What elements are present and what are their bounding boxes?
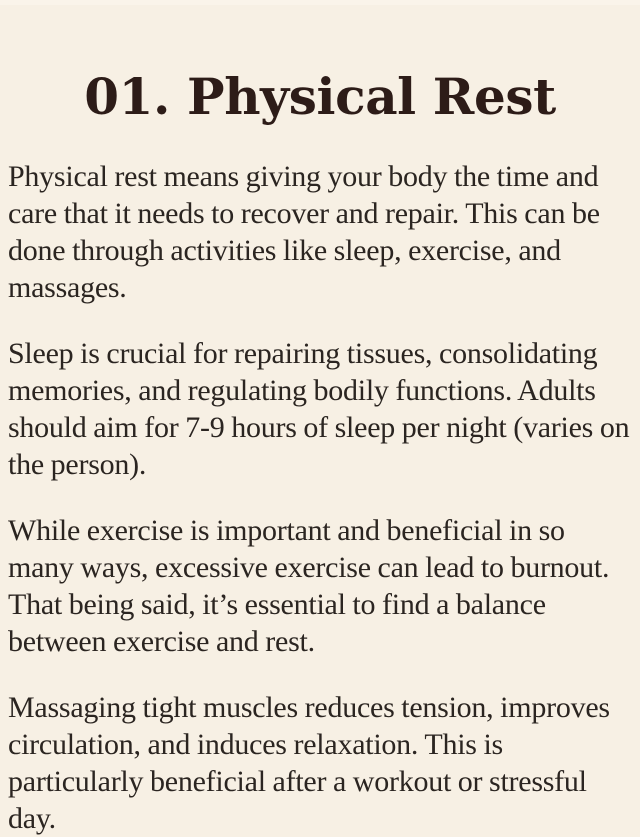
- body-copy: Physical rest means giving your body the…: [8, 158, 634, 837]
- paragraph-3: While exercise is important and benefici…: [8, 512, 634, 660]
- page-title: 01. Physical Rest: [0, 72, 640, 122]
- paragraph-1: Physical rest means giving your body the…: [8, 158, 634, 306]
- document-page: 01. Physical Rest Physical rest means gi…: [0, 0, 640, 742]
- top-edge-band: [0, 0, 640, 5]
- paragraph-2: Sleep is crucial for repairing tissues, …: [8, 335, 634, 483]
- paragraph-4: Massaging tight muscles reduces tension,…: [8, 689, 634, 837]
